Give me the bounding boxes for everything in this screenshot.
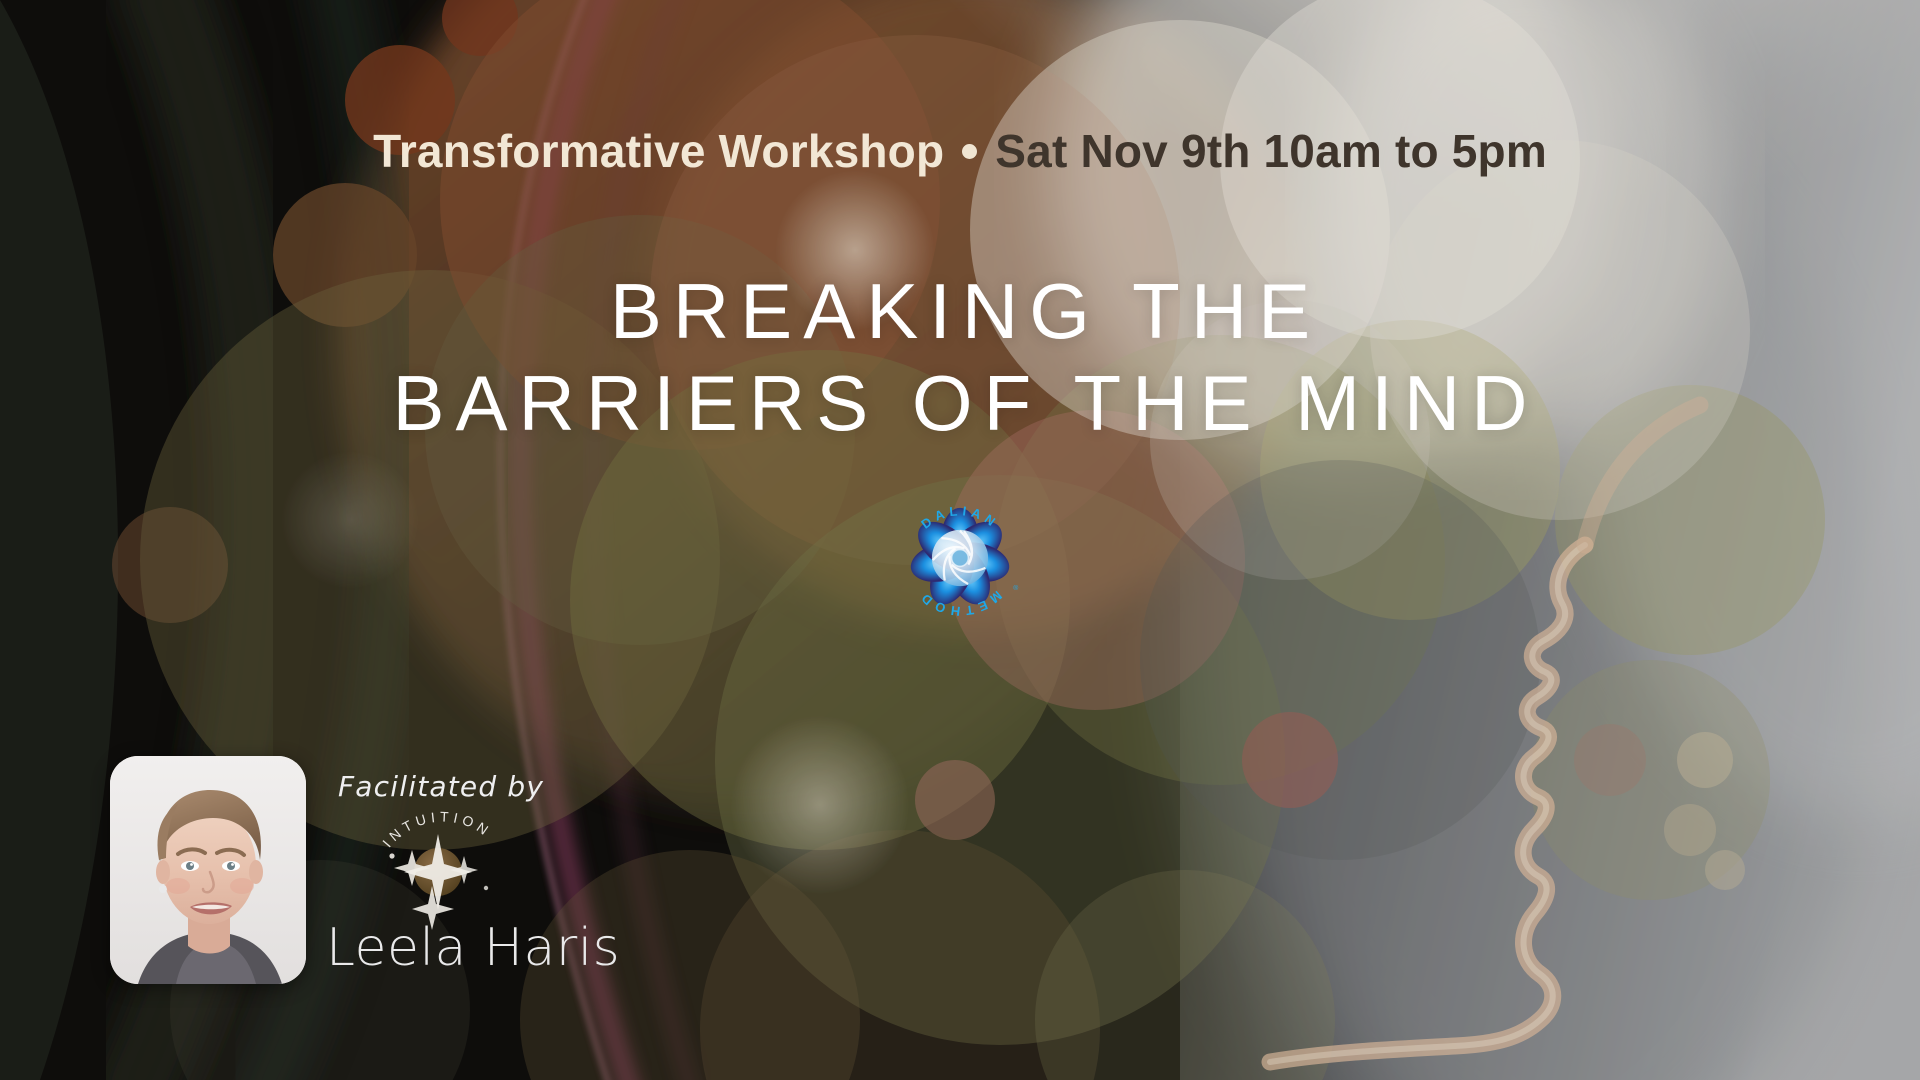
avatar [110,756,306,984]
headline-line-1: BREAKING THE [610,267,1321,355]
kicker-date-time: Sat Nov 9th 10am to 5pm [995,128,1547,174]
headline-line-2: BARRIERS OF THE MIND [0,364,1920,444]
intuition-logo: INTUITION [368,810,518,930]
kicker-separator-dot [962,144,977,159]
presenter-name: Leela Haris [326,918,620,978]
registered-trademark-mark: ® [1013,584,1018,592]
poster-canvas: Transformative WorkshopSat Nov 9th 10am … [0,0,1920,1080]
event-kicker-line: Transformative WorkshopSat Nov 9th 10am … [0,128,1920,174]
dalian-method-logo: DALIAN METHOD ® [884,482,1036,634]
page-title: BREAKING THE BARRIERS OF THE MIND [0,272,1920,443]
kicker-workshop-label: Transformative Workshop [373,128,944,174]
presenter-block: Facilitated by INTUITION [110,748,630,998]
facilitated-by-label: Facilitated by [338,770,544,803]
